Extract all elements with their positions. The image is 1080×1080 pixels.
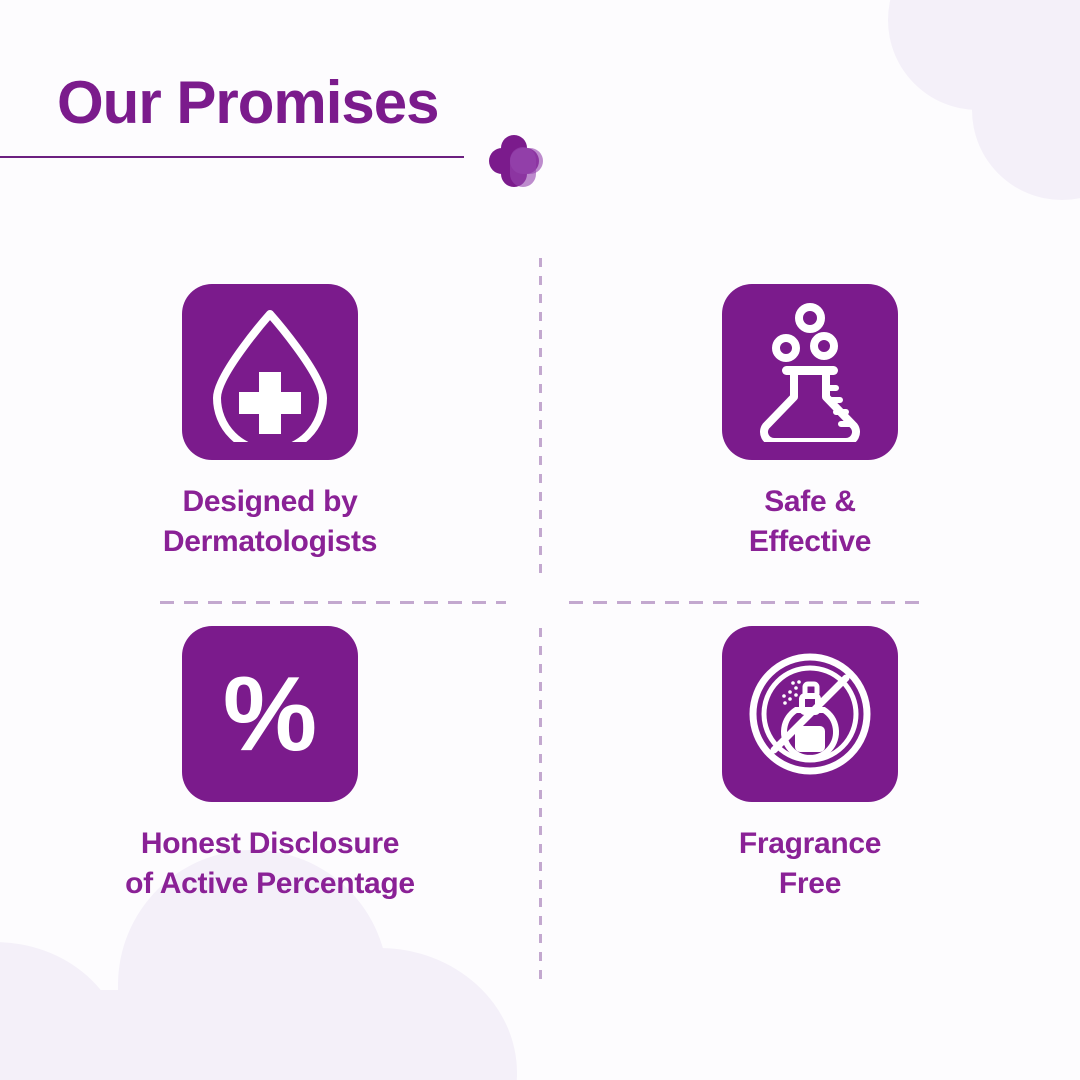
percent-symbol: % bbox=[223, 661, 317, 767]
plus-cross-logo-icon bbox=[489, 134, 543, 188]
promise-card-label-line2: Dermatologists bbox=[163, 522, 377, 562]
promise-card-label: Safe & Effective bbox=[749, 482, 871, 562]
promise-card-honest-disclosure: % Honest Disclosure of Active Percentage bbox=[0, 602, 540, 982]
promise-card-label: Designed by Dermatologists bbox=[163, 482, 377, 562]
promise-card-label-line2: Free bbox=[739, 864, 881, 904]
no-fragrance-icon bbox=[722, 626, 898, 802]
percent-icon: % bbox=[182, 626, 358, 802]
promise-card-label-line1: Designed by bbox=[163, 482, 377, 522]
promise-card-designed-by-dermatologists: Designed by Dermatologists bbox=[0, 258, 540, 602]
promise-card-fragrance-free: Fragrance Free bbox=[540, 602, 1080, 982]
promise-card-label-line2: of Active Percentage bbox=[125, 864, 415, 904]
page-title: Our Promises bbox=[57, 70, 439, 136]
promises-grid: Designed by Dermatologists Safe & Effect… bbox=[0, 258, 1080, 1018]
promise-card-safe-and-effective: Safe & Effective bbox=[540, 258, 1080, 602]
cloud-blob-top-right bbox=[888, 0, 1068, 110]
promise-card-label-line1: Honest Disclosure bbox=[125, 824, 415, 864]
title-underline-rule bbox=[0, 156, 464, 158]
cloud-blob-top-right bbox=[970, 0, 1080, 70]
promise-card-label: Honest Disclosure of Active Percentage bbox=[125, 824, 415, 904]
droplet-plus-icon bbox=[182, 284, 358, 460]
flask-bubbles-icon bbox=[722, 284, 898, 460]
promise-card-label: Fragrance Free bbox=[739, 824, 881, 904]
cloud-blob-top-right bbox=[972, 20, 1080, 200]
promise-card-label-line1: Fragrance bbox=[739, 824, 881, 864]
promise-card-label-line2: Effective bbox=[749, 522, 871, 562]
logo-bar-vertical-light bbox=[510, 147, 536, 187]
promise-card-label-line1: Safe & bbox=[749, 482, 871, 522]
